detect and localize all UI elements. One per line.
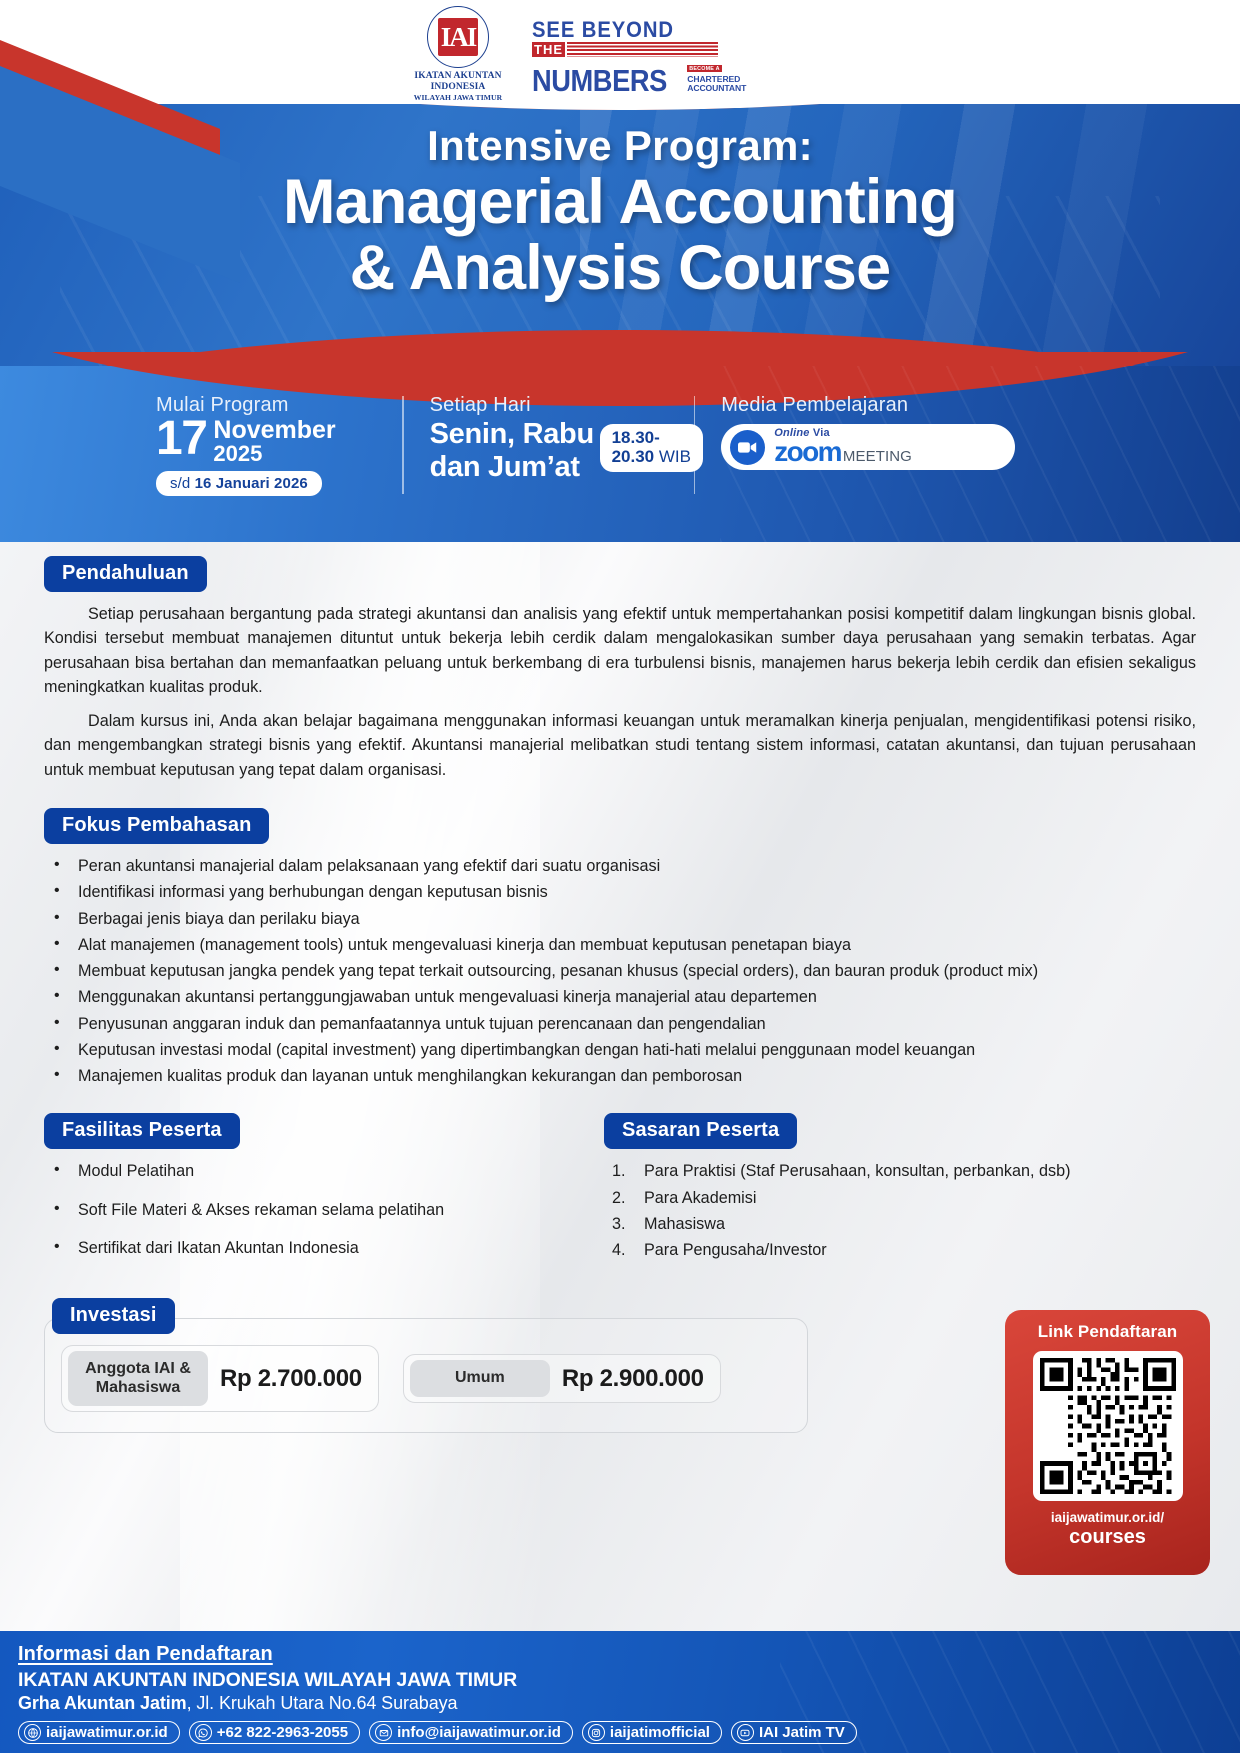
time-line1: 18.30-: [612, 429, 691, 448]
contact-chip-youtube[interactable]: IAI Jatim TV: [731, 1721, 857, 1744]
start-year: 2025: [213, 443, 335, 465]
schedule-infobar: Mulai Program 17 November 2025 s/d 16 Ja…: [0, 352, 1240, 542]
registration-qr-panel[interactable]: Link Pendaftaran: [1005, 1310, 1210, 1575]
time-pill: 18.30- 20.30 WIB: [600, 424, 703, 472]
logo-group: IAI IKATAN AKUNTAN INDONESIA WILAYAH JAW…: [398, 6, 728, 102]
list-item: Soft File Materi & Akses rekaman selama …: [44, 1198, 604, 1223]
video-camera-icon: [730, 430, 765, 465]
whatsapp-icon: [195, 1724, 212, 1741]
qr-url: iaijawatimur.or.id/: [1015, 1510, 1200, 1526]
qr-code-frame: [1033, 1351, 1183, 1501]
zoom-meeting-label: MEETING: [843, 448, 912, 465]
contact-chip-email[interactable]: info@iaijawatimur.or.id: [369, 1721, 573, 1744]
list-item: Membuat keputusan jangka pendek yang tep…: [44, 959, 1196, 984]
iai-seal-icon: IAI: [427, 6, 489, 68]
section-badge-pendahuluan: Pendahuluan: [44, 556, 207, 592]
ca-become-label: BECOME A: [687, 65, 721, 72]
footer-address-building: Grha Akuntan Jatim: [18, 1693, 187, 1713]
fasilitas-section: Fasilitas Peserta Modul Pelatihan Soft F…: [44, 1113, 604, 1274]
time-zone: WIB: [659, 447, 691, 466]
price-tier-member: Anggota IAI & Mahasiswa: [68, 1351, 208, 1406]
schedule-block: Setiap Hari Senin, Rabu dan Jum’at 18.30…: [404, 394, 694, 484]
start-date-block: Mulai Program 17 November 2025 s/d 16 Ja…: [130, 394, 402, 496]
list-item: Manajemen kualitas produk dan layanan un…: [44, 1064, 1196, 1089]
footer-heading: Informasi dan Pendaftaran: [18, 1643, 1240, 1666]
title-line-1: Intensive Program:: [0, 122, 1240, 169]
contact-label-website: iaijawatimur.or.id: [46, 1724, 168, 1741]
fokus-list: Peran akuntansi manajerial dalam pelaksa…: [44, 854, 1196, 1089]
instagram-icon: [588, 1724, 605, 1741]
until-date: 16 Januari 2026: [195, 475, 308, 492]
price-tier-general: Umum: [410, 1360, 550, 1396]
list-item: Para Akademisi: [604, 1186, 1164, 1211]
tagline-the-row: THE: [532, 42, 718, 57]
see-beyond-numbers-logo: SEE BEYOND THE NUMBERS BECOME A CHARTERE…: [532, 6, 718, 95]
stripes-decoration: [567, 42, 718, 57]
sasaran-list: Para Praktisi (Staf Perusahaan, konsulta…: [604, 1159, 1164, 1263]
tagline-the: THE: [532, 42, 565, 57]
list-item: Modul Pelatihan: [44, 1159, 604, 1184]
media-block: Media Pembelajaran Online Via zoomMEETIN…: [695, 394, 1075, 470]
page-title: Intensive Program: Managerial Accounting…: [0, 122, 1240, 301]
iai-monogram: IAI: [438, 18, 478, 56]
contact-chip-instagram[interactable]: iaijatimofficial: [582, 1721, 722, 1744]
contact-chip-whatsapp[interactable]: +62 822-2963-2055: [189, 1721, 360, 1744]
pendahuluan-paragraph-1: Setiap perusahaan bergantung pada strate…: [44, 602, 1196, 699]
price-amount-general: Rp 2.900.000: [562, 1365, 704, 1393]
list-item: Penyusunan anggaran induk dan pemanfaata…: [44, 1012, 1196, 1037]
price-card-general: Umum Rp 2.900.000: [403, 1354, 721, 1402]
email-icon: [375, 1724, 392, 1741]
tagline-see-beyond: SEE BEYOND: [532, 20, 703, 41]
iai-logo: IAI IKATAN AKUNTAN INDONESIA WILAYAH JAW…: [398, 6, 518, 102]
section-badge-fasilitas: Fasilitas Peserta: [44, 1113, 240, 1149]
contact-label-email: info@iaijawatimur.or.id: [397, 1724, 561, 1741]
list-item: Identifikasi informasi yang berhubungan …: [44, 880, 1196, 905]
zoom-wordmark: zoom: [774, 439, 841, 466]
footer-address-street: , Jl. Krukah Utara No.64 Surabaya: [187, 1693, 458, 1713]
list-item: Sertifikat dari Ikatan Akuntan Indonesia: [44, 1236, 604, 1261]
youtube-icon: [737, 1724, 754, 1741]
sasaran-section: Sasaran Peserta Para Praktisi (Staf Peru…: [604, 1113, 1164, 1274]
footer-organization: IKATAN AKUNTAN INDONESIA WILAYAH JAWA TI…: [18, 1669, 1240, 1692]
list-item: Peran akuntansi manajerial dalam pelaksa…: [44, 854, 1196, 879]
contact-chip-website[interactable]: iaijawatimur.or.id: [18, 1721, 180, 1744]
list-item: Para Praktisi (Staf Perusahaan, konsulta…: [604, 1159, 1164, 1184]
list-item: Para Pengusaha/Investor: [604, 1238, 1164, 1263]
price-amount-member: Rp 2.700.000: [220, 1365, 362, 1393]
price-card-member: Anggota IAI & Mahasiswa Rp 2.700.000: [61, 1345, 379, 1412]
list-item: Mahasiswa: [604, 1212, 1164, 1237]
title-line-2: Managerial Accounting: [0, 169, 1240, 235]
ca-line2: ACCOUNTANT: [687, 84, 746, 93]
contact-label-instagram: iaijatimofficial: [610, 1724, 710, 1741]
list-item: Alat manajemen (management tools) untuk …: [44, 933, 1196, 958]
until-prefix: s/d: [170, 475, 195, 492]
price-tier-member-line2: Mahasiswa: [82, 1379, 194, 1397]
list-item: Berbagai jenis biaya dan perilaku biaya: [44, 907, 1196, 932]
iai-logo-name: IKATAN AKUNTAN INDONESIA: [398, 71, 518, 93]
time-line2: 20.30: [612, 447, 659, 466]
until-date-pill: s/d 16 Januari 2026: [156, 471, 322, 496]
zoom-badge: Online Via zoomMEETING: [721, 424, 1015, 470]
title-line-3: & Analysis Course: [0, 235, 1240, 301]
contact-label-youtube: IAI Jatim TV: [759, 1724, 845, 1741]
iai-logo-region: WILAYAH JAWA TIMUR: [398, 93, 518, 102]
list-item: Keputusan investasi modal (capital inves…: [44, 1038, 1196, 1063]
section-badge-fokus: Fokus Pembahasan: [44, 808, 269, 844]
section-badge-investasi: Investasi: [52, 1298, 175, 1334]
tagline-numbers-row: NUMBERS BECOME A CHARTERED ACCOUNTANT: [532, 57, 718, 95]
footer-contact-bar: Informasi dan Pendaftaran IKATAN AKUNTAN…: [0, 1631, 1240, 1753]
qr-panel-title: Link Pendaftaran: [1015, 1322, 1200, 1342]
start-month: November: [213, 418, 335, 443]
pendahuluan-paragraph-2: Dalam kursus ini, Anda akan belajar baga…: [44, 709, 1196, 782]
footer-address: Grha Akuntan Jatim, Jl. Krukah Utara No.…: [18, 1693, 1240, 1714]
fasilitas-list: Modul Pelatihan Soft File Materi & Akses…: [44, 1159, 604, 1261]
investasi-box: Anggota IAI & Mahasiswa Rp 2.700.000 Umu…: [44, 1318, 808, 1433]
schedule-label: Setiap Hari: [430, 394, 668, 417]
contact-label-whatsapp: +62 822-2963-2055: [217, 1724, 348, 1741]
tagline-numbers: NUMBERS: [532, 67, 667, 95]
qr-url-path: courses: [1015, 1526, 1200, 1548]
start-day: 17: [156, 418, 206, 459]
section-badge-sasaran: Sasaran Peserta: [604, 1113, 797, 1149]
price-tier-member-line1: Anggota IAI &: [82, 1360, 194, 1378]
media-label: Media Pembelajaran: [721, 394, 1049, 417]
chartered-accountant-badge: BECOME A CHARTERED ACCOUNTANT: [687, 57, 746, 95]
qr-code-icon[interactable]: [1040, 1358, 1176, 1494]
list-item: Menggunakan akuntansi pertanggungjawaban…: [44, 985, 1196, 1010]
globe-icon: [24, 1724, 41, 1741]
footer-contact-chips: iaijawatimur.or.id +62 822-2963-2055 inf…: [18, 1721, 1240, 1744]
